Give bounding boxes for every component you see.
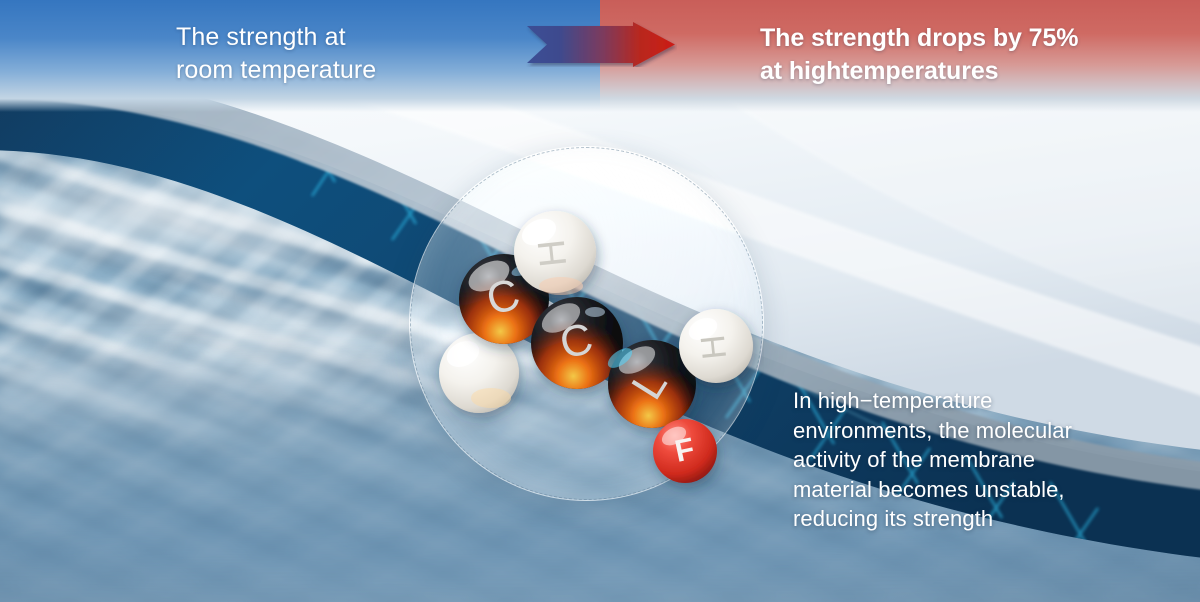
atom-h2: H (679, 309, 753, 383)
molecule-model: C H C L H (409, 146, 764, 501)
atom-h3 (439, 333, 519, 413)
high-temperature-caption: In high−temperature environments, the mo… (793, 386, 1165, 534)
atom-label-h1: H (531, 237, 576, 269)
right-arrow-icon (525, 22, 677, 67)
infographic-canvas: C H C L H (0, 0, 1200, 602)
room-temperature-label: The strength at room temperature (176, 21, 376, 87)
atom-label-h2: H (694, 333, 734, 361)
high-temperature-label: The strength drops by 75% at hightempera… (760, 22, 1078, 88)
atom-f1: F (653, 419, 717, 483)
